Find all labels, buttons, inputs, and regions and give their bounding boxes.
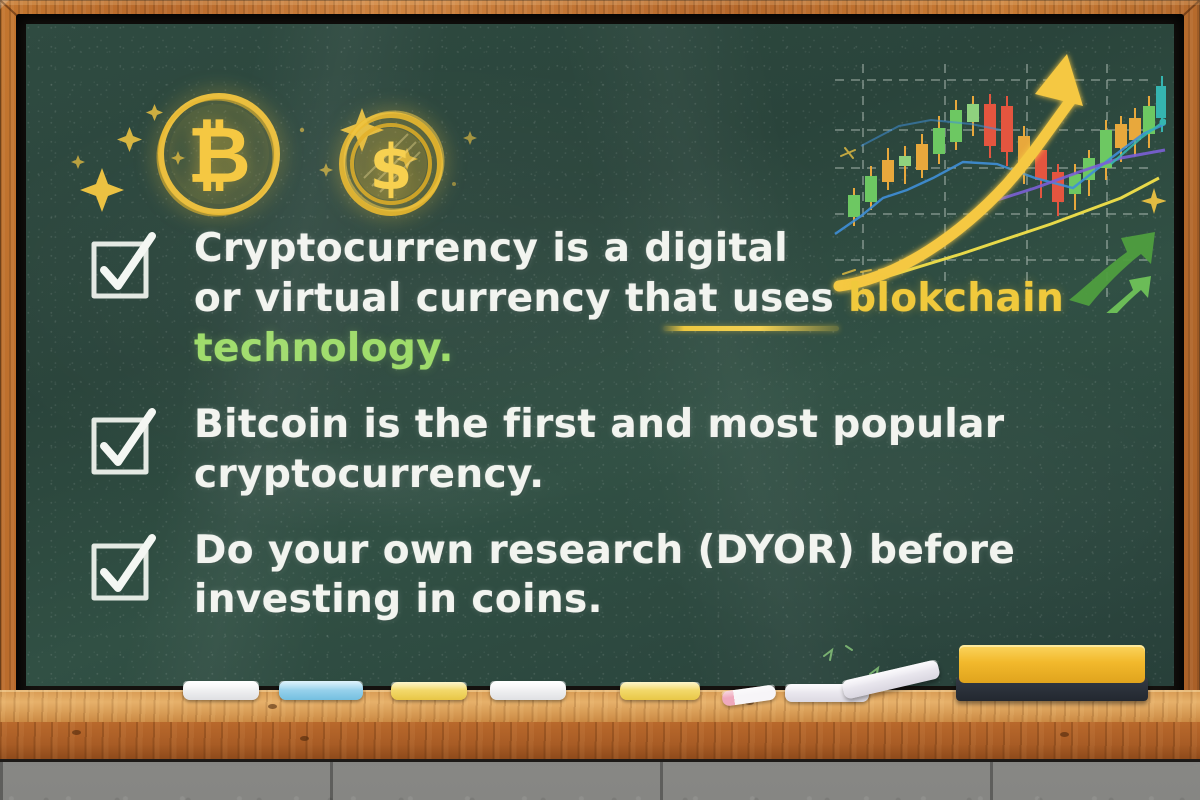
chalk-yellow-2[interactable] [620, 682, 700, 700]
checklist-item-1[interactable]: Cryptocurrency is a digital or virtual c… [88, 224, 1148, 374]
chalk-yellow-1[interactable] [391, 682, 467, 700]
eraser-top [959, 645, 1145, 683]
svg-text:₿: ₿ [187, 111, 251, 201]
chalk-tray-front [0, 722, 1200, 762]
chalk-white-2[interactable] [490, 681, 566, 700]
crypto-coins-group: ₿ $ [146, 86, 466, 226]
item1-line2: or virtual currency that uses blokchain … [194, 274, 1148, 374]
checklist-item-2[interactable]: Bitcoin is the first and most popular cr… [88, 400, 1148, 500]
checkbox-checked-icon[interactable] [88, 406, 160, 478]
item1-line2-prefix: or virtual currency that uses [194, 276, 848, 321]
checkbox-checked-icon[interactable] [88, 532, 160, 604]
item3-line1: Do your own research (DYOR) before [194, 526, 1148, 576]
sparkle-star [1141, 188, 1166, 214]
chart-candles [848, 76, 1166, 226]
chalk-blue[interactable] [279, 681, 363, 700]
dollar-coin-icon: $ [342, 112, 443, 213]
checklist-item-1-text: Cryptocurrency is a digital or virtual c… [88, 224, 1148, 374]
checkbox-checked-icon[interactable] [88, 230, 160, 302]
item1-highlight-blokchain: blokchain [848, 276, 1064, 321]
checklist-item-3[interactable]: Do your own research (DYOR) before inves… [88, 526, 1148, 626]
item2-line1: Bitcoin is the first and most popular [194, 400, 1148, 450]
blokchain-underline [663, 326, 839, 331]
item3-line2: investing in coins. [194, 575, 1148, 625]
checklist: Cryptocurrency is a digital or virtual c… [88, 224, 1148, 641]
svg-text:$: $ [369, 131, 412, 204]
bitcoin-coin-icon: ₿ [158, 96, 277, 215]
item2-line2: cryptocurrency. [194, 450, 1148, 500]
item1-suffix-technology: technology. [194, 326, 454, 371]
item1-line1: Cryptocurrency is a digital [194, 224, 1148, 274]
chalk-white-1[interactable] [183, 681, 259, 700]
checklist-item-3-text: Do your own research (DYOR) before inves… [88, 526, 1148, 626]
chalkboard-surface: ₿ $ [26, 24, 1174, 686]
checklist-item-2-text: Bitcoin is the first and most popular cr… [88, 400, 1148, 500]
blackboard-eraser[interactable] [956, 645, 1148, 701]
chalkboard-scene: ₿ $ [0, 0, 1200, 800]
